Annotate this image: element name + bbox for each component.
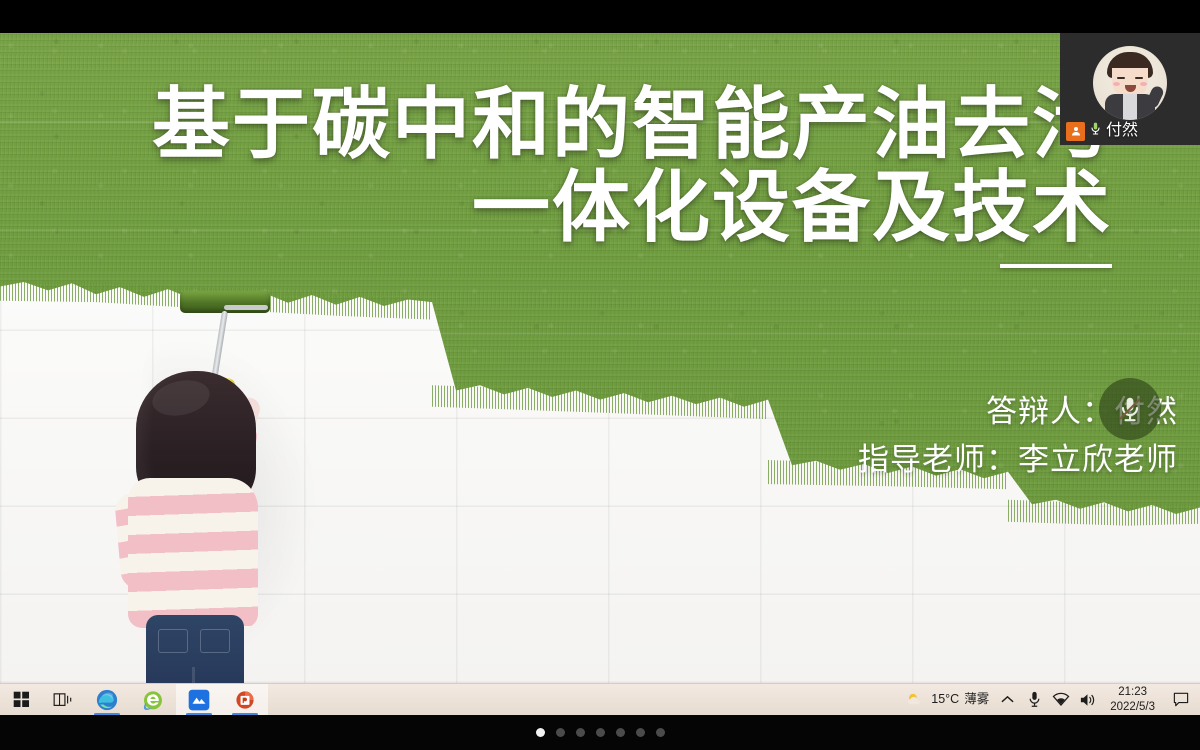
girl-jeans xyxy=(146,615,244,683)
slide-dot[interactable] xyxy=(616,728,625,737)
avatar xyxy=(1093,46,1167,120)
clock-widget[interactable]: 21:23 2022/5/3 xyxy=(1106,685,1159,714)
weather-sun-cloud-icon xyxy=(906,691,926,709)
participant-video-tile[interactable]: 付然 xyxy=(1060,33,1200,145)
avatar-blush-right xyxy=(1140,82,1147,86)
screen: 基于碳中和的智能产油去污 一体化设备及技术 答辩人：付然 指导老师：李立欣老师 xyxy=(0,0,1200,750)
volume-button[interactable] xyxy=(1079,691,1097,709)
avatar-eye-right xyxy=(1135,77,1143,79)
girl-striped-sweater xyxy=(128,478,258,628)
windows-start-icon xyxy=(13,691,30,708)
show-hidden-icons-button[interactable] xyxy=(998,691,1016,709)
taskbar-app-internet-explorer[interactable] xyxy=(130,684,176,716)
participant-name: 付然 xyxy=(1106,123,1138,139)
avatar-body xyxy=(1105,94,1155,120)
presenter-name-line: 答辩人：付然 xyxy=(478,388,1178,436)
presentation-slide[interactable]: 基于碳中和的智能产油去污 一体化设备及技术 答辩人：付然 指导老师：李立欣老师 xyxy=(0,33,1200,683)
avatar-mouth xyxy=(1125,85,1136,92)
action-center-button[interactable] xyxy=(1168,684,1194,716)
slide-pagination-dots[interactable] xyxy=(0,715,1200,750)
person-glyph-icon xyxy=(1070,125,1082,137)
avatar-raised-arm xyxy=(1145,84,1165,109)
microphone-muted-icon xyxy=(1115,394,1145,424)
taskbar-app-tencent-meeting[interactable] xyxy=(176,684,222,716)
slide-dot[interactable] xyxy=(576,728,585,737)
system-tray: 15°C 薄雾 xyxy=(906,684,1200,716)
jeans-pocket-left xyxy=(158,629,188,653)
speaker-icon xyxy=(1079,692,1097,708)
mute-microphone-button[interactable] xyxy=(1099,378,1161,440)
weather-condition: 薄雾 xyxy=(964,693,989,707)
chevron-up-icon xyxy=(1001,695,1014,704)
internet-explorer-icon xyxy=(141,688,165,712)
microphone-glyph-icon xyxy=(1088,121,1103,136)
jeans-pocket-right xyxy=(200,629,230,653)
participant-icon xyxy=(1066,122,1085,141)
weather-widget[interactable]: 15°C 薄雾 xyxy=(906,691,989,709)
task-view-button[interactable] xyxy=(42,684,84,716)
weather-temperature: 15°C xyxy=(931,693,959,707)
advisor-name-line: 指导老师：李立欣老师 xyxy=(478,436,1178,484)
action-center-icon xyxy=(1173,692,1189,707)
task-view-icon xyxy=(53,691,73,709)
avatar-eye-left xyxy=(1117,77,1125,79)
avatar-blush-left xyxy=(1113,82,1120,86)
letterbox-top xyxy=(0,0,1200,33)
network-button[interactable] xyxy=(1052,691,1070,709)
paint-roller-bar xyxy=(224,305,268,310)
slide-dot[interactable] xyxy=(636,728,645,737)
slide-dot[interactable] xyxy=(656,728,665,737)
slide-dot[interactable] xyxy=(556,728,565,737)
slide-dot[interactable] xyxy=(536,728,545,737)
taskbar-left-group xyxy=(0,684,268,716)
avatar-shirt xyxy=(1123,94,1137,120)
girl-painting-illustration xyxy=(120,283,350,683)
clock-date: 2022/5/3 xyxy=(1110,700,1155,714)
powerpoint-icon xyxy=(234,689,256,711)
video-tile-badges: 付然 xyxy=(1066,121,1138,141)
tray-microphone-button[interactable] xyxy=(1025,691,1043,709)
wifi-icon xyxy=(1052,692,1070,707)
slide-dot[interactable] xyxy=(596,728,605,737)
start-button[interactable] xyxy=(0,684,42,716)
edge-icon xyxy=(95,688,119,712)
taskbar-app-edge[interactable] xyxy=(84,684,130,716)
microphone-icon xyxy=(1088,121,1103,141)
presenter-info-block: 答辩人：付然 指导老师：李立欣老师 xyxy=(478,388,1178,484)
clock-time: 21:23 xyxy=(1110,685,1155,699)
windows-taskbar[interactable]: 15°C 薄雾 xyxy=(0,683,1200,715)
taskbar-app-powerpoint[interactable] xyxy=(222,684,268,716)
tencent-meeting-icon xyxy=(188,689,210,711)
microphone-icon xyxy=(1028,691,1041,708)
